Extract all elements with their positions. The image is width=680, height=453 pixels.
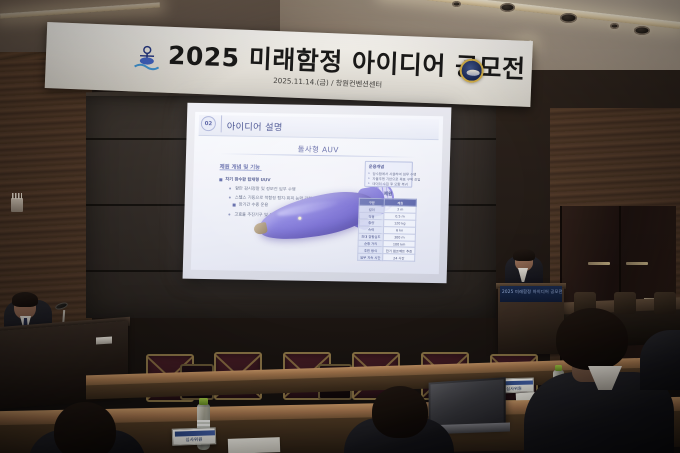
downlight-icon bbox=[610, 23, 619, 29]
laptop[interactable] bbox=[429, 377, 506, 429]
attendee-head bbox=[372, 386, 428, 438]
attendee-head bbox=[54, 402, 116, 453]
name-placard: 심사위원 bbox=[172, 427, 217, 446]
wall-fixture-icon bbox=[11, 198, 23, 212]
downlight-icon bbox=[634, 26, 650, 35]
bottle-cap-icon bbox=[199, 398, 208, 405]
cove-light-strip bbox=[0, 2, 160, 18]
presentation-slide: 02 아이디어 설명 돌사형 AUV 제원 개념 및 기능 차기 잠수함 탑재형… bbox=[191, 112, 443, 274]
document-paper bbox=[228, 437, 280, 453]
desk-paper bbox=[96, 336, 112, 344]
auv-sensor-eye bbox=[298, 217, 301, 220]
spec-val: 24 시간 bbox=[383, 254, 415, 261]
downlight-icon bbox=[452, 1, 461, 7]
attendee-head bbox=[556, 308, 628, 370]
judge-hair bbox=[12, 292, 38, 307]
door-handle-icon[interactable] bbox=[588, 262, 610, 265]
laptop-screen bbox=[430, 379, 503, 427]
slide-section-title: 아이디어 설명 bbox=[227, 118, 283, 133]
podium-panel-text: 2025 미래함정 아이디어 공모전 bbox=[502, 289, 560, 295]
placard-name-text: 심사위원 bbox=[173, 436, 215, 443]
presenter-hair bbox=[513, 249, 535, 261]
projection-screen: 02 아이디어 설명 돌사형 AUV 제원 개념 및 기능 차기 잠수함 탑재형… bbox=[183, 103, 452, 284]
conference-hall-photo: 2025 미래함정 아이디어 공모전 2025.11.14.(금) / 창원컨벤… bbox=[0, 0, 680, 453]
bottle-cap-icon bbox=[555, 365, 562, 371]
downlight-icon bbox=[500, 3, 515, 12]
downlight-icon bbox=[560, 13, 577, 23]
spec-table: 구분 제원 길이3 m 직경0.5 m 중량120 kg 속력6 kn 최대 잠… bbox=[357, 198, 417, 262]
spec-table-title: 제원 bbox=[364, 191, 412, 198]
concept-bullet: 데이터 수집 후 모함 복귀 bbox=[372, 181, 408, 187]
table-row: 임무 지속 시간24 시간 bbox=[358, 254, 415, 262]
back-chair bbox=[614, 292, 636, 314]
spec-key: 임무 지속 시간 bbox=[358, 254, 383, 261]
back-chair bbox=[654, 292, 676, 314]
navy-anchor-emblem-icon bbox=[131, 41, 162, 72]
door-handle-icon[interactable] bbox=[626, 262, 648, 265]
slide-concept-box: 운용개념 잠수함에서 사출하여 임무 수행 자율주행 기반으로 목표 구역 진입… bbox=[364, 161, 413, 188]
concept-box-title: 운용개념 bbox=[369, 164, 385, 170]
